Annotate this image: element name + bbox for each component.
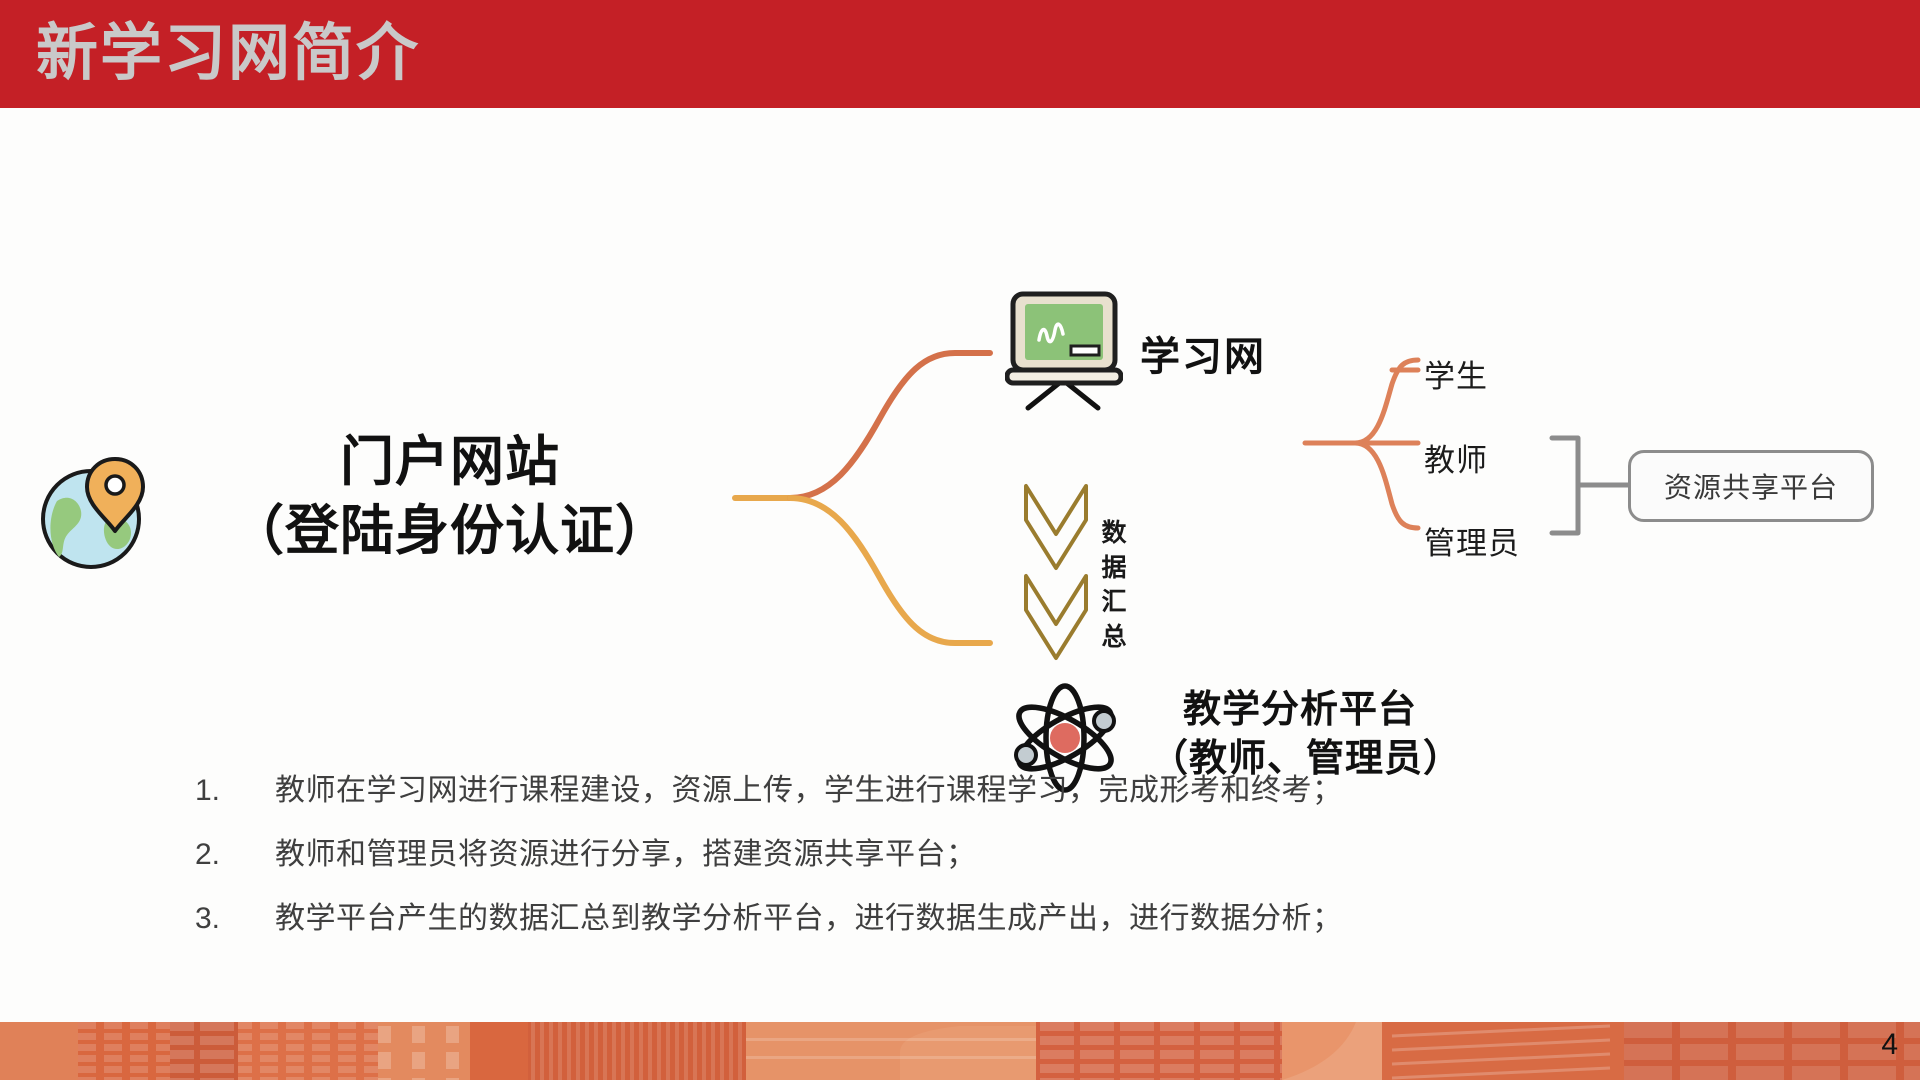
role-label-teacher: 教师 xyxy=(1424,435,1488,480)
list-item: 3. 教学平台产生的数据汇总到教学分析平台，进行数据生成产出，进行数据分析； xyxy=(195,901,1695,937)
resource-sharing-platform-label: 资源共享平台 xyxy=(1664,466,1838,506)
cityscape-pattern xyxy=(0,1022,1920,1080)
list-item-number: 3. xyxy=(195,902,275,936)
group-bracket xyxy=(1552,438,1578,533)
data-flow-label: 数 据 汇 总 xyxy=(1097,516,1131,654)
role-label-student: 学生 xyxy=(1424,351,1488,396)
double-chevron-down-icon xyxy=(1022,480,1090,664)
data-flow-char-3: 总 xyxy=(1097,620,1131,655)
list-item: 1. 教师在学习网进行课程建设，资源上传，学生进行课程学习，完成形考和终考； xyxy=(195,773,1695,809)
page-title: 新学习网简介 xyxy=(36,6,420,102)
node-label-xuexiwang: 学习网 xyxy=(1140,324,1266,382)
connector-to-xuexiwang xyxy=(790,353,990,498)
page-number: 4 xyxy=(1881,1028,1898,1062)
list-item-number: 2. xyxy=(195,838,275,872)
connector-to-admin xyxy=(1355,443,1418,528)
data-flow-char-2: 汇 xyxy=(1097,585,1131,620)
role-label-admin: 管理员 xyxy=(1424,518,1520,563)
data-flow-char-1: 据 xyxy=(1097,551,1131,586)
numbered-list: 1. 教师在学习网进行课程建设，资源上传，学生进行课程学习，完成形考和终考； 2… xyxy=(195,773,1695,965)
list-item: 2. 教师和管理员将资源进行分享，搭建资源共享平台； xyxy=(195,837,1695,873)
portal-label-line1: 门户网站 xyxy=(215,428,685,497)
slide-body: 门户网站 （登陆身份认证） 学习网 数 据 汇 总 xyxy=(0,108,1920,1022)
list-item-text: 教师和管理员将资源进行分享，搭建资源共享平台； xyxy=(275,837,977,873)
portal-node-label: 门户网站 （登陆身份认证） xyxy=(215,428,685,566)
header-banner: 新学习网简介 xyxy=(0,0,1920,108)
blackboard-icon xyxy=(1005,290,1123,400)
analysis-label-line1: 教学分析平台 xyxy=(1150,686,1450,735)
connector-to-analysis xyxy=(790,498,990,643)
portal-label-line2: （登陆身份认证） xyxy=(215,497,685,566)
node-label-analysis: 教学分析平台 （教师、管理员） xyxy=(1150,686,1450,785)
resource-sharing-platform-box: 资源共享平台 xyxy=(1628,450,1874,522)
footer-decorative-band xyxy=(0,1022,1920,1080)
data-flow-char-0: 数 xyxy=(1097,516,1131,551)
list-item-text: 教师在学习网进行课程建设，资源上传，学生进行课程学习，完成形考和终考； xyxy=(275,773,1343,809)
globe-pin-icon xyxy=(35,453,155,573)
list-item-text: 教学平台产生的数据汇总到教学分析平台，进行数据生成产出，进行数据分析； xyxy=(275,901,1343,937)
architecture-diagram: 门户网站 （登陆身份认证） 学习网 数 据 汇 总 xyxy=(0,108,1920,808)
list-item-number: 1. xyxy=(195,774,275,808)
